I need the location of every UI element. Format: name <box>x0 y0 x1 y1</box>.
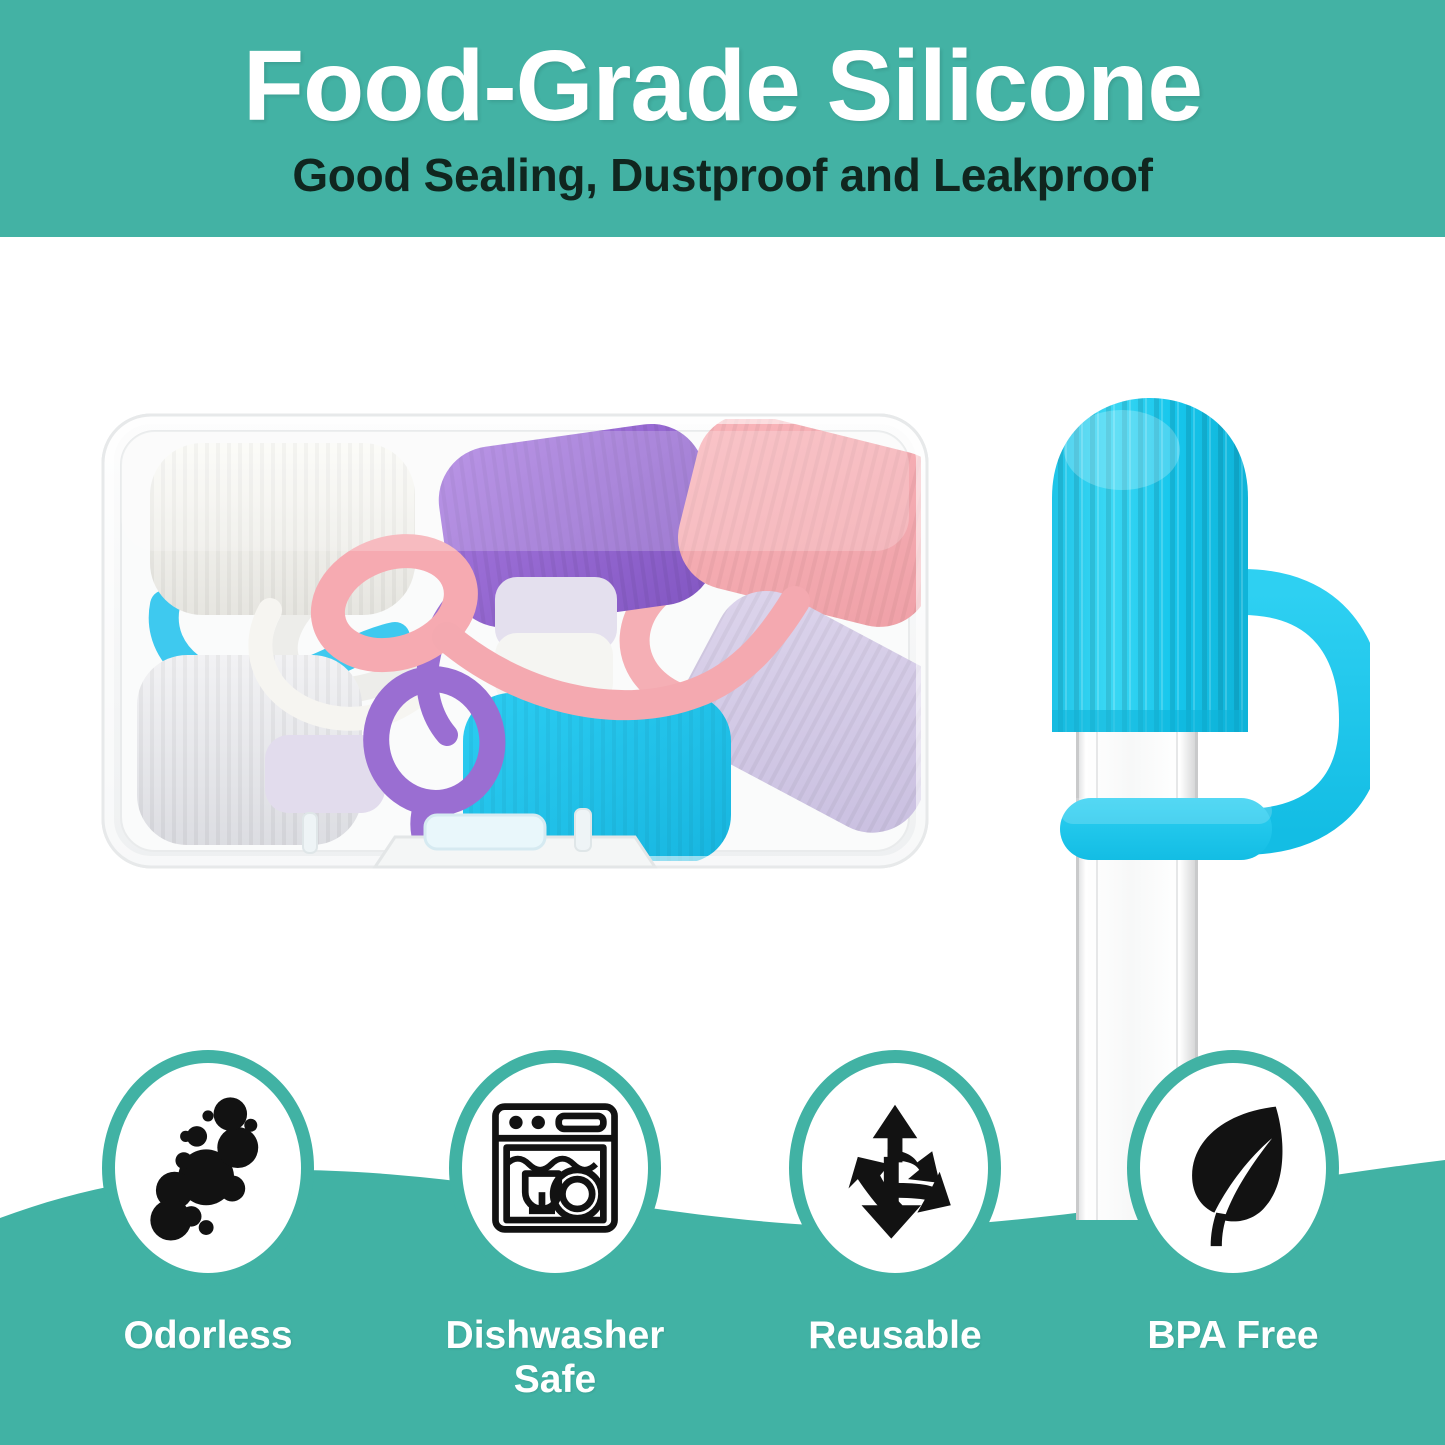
feature-label-dishwasher: DishwasherSafe <box>430 1314 680 1401</box>
feature-label-odorless: Odorless <box>83 1314 333 1358</box>
feature-badge-row: Odorless <box>0 1040 1445 1445</box>
feature-bpa-free[interactable]: BPA Free <box>1108 1050 1358 1358</box>
product-case-image <box>95 405 935 875</box>
recycle-icon <box>802 1063 988 1273</box>
badge-circle-bpa-free <box>1127 1050 1339 1286</box>
feature-label-reusable: Reusable <box>770 1314 1020 1358</box>
badge-circle-odorless <box>102 1050 314 1286</box>
feature-odorless[interactable]: Odorless <box>83 1050 333 1358</box>
page-title: Food-Grade Silicone <box>0 34 1445 139</box>
dishwasher-icon <box>462 1063 648 1273</box>
feature-label-dishwasher-line1: Dishwasher <box>446 1314 665 1357</box>
header-banner: Food-Grade Silicone Good Sealing, Dustpr… <box>0 0 1445 237</box>
straw-ring-band <box>1060 798 1272 860</box>
badge-circle-reusable <box>789 1050 1001 1286</box>
leaf-icon <box>1140 1063 1326 1273</box>
silicone-cap <box>1052 398 1252 738</box>
feature-reusable[interactable]: Reusable <box>770 1050 1020 1358</box>
feature-label-dishwasher-line2: Safe <box>514 1358 596 1401</box>
bubbles-icon <box>115 1063 301 1273</box>
page-subtitle: Good Sealing, Dustproof and Leakproof <box>0 148 1445 202</box>
feature-dishwasher-safe[interactable]: DishwasherSafe <box>430 1050 680 1401</box>
infographic-page: Food-Grade Silicone Good Sealing, Dustpr… <box>0 0 1445 1445</box>
badge-circle-dishwasher <box>449 1050 661 1286</box>
feature-label-bpa-free: BPA Free <box>1108 1314 1358 1358</box>
flexible-loop <box>1242 592 1362 832</box>
